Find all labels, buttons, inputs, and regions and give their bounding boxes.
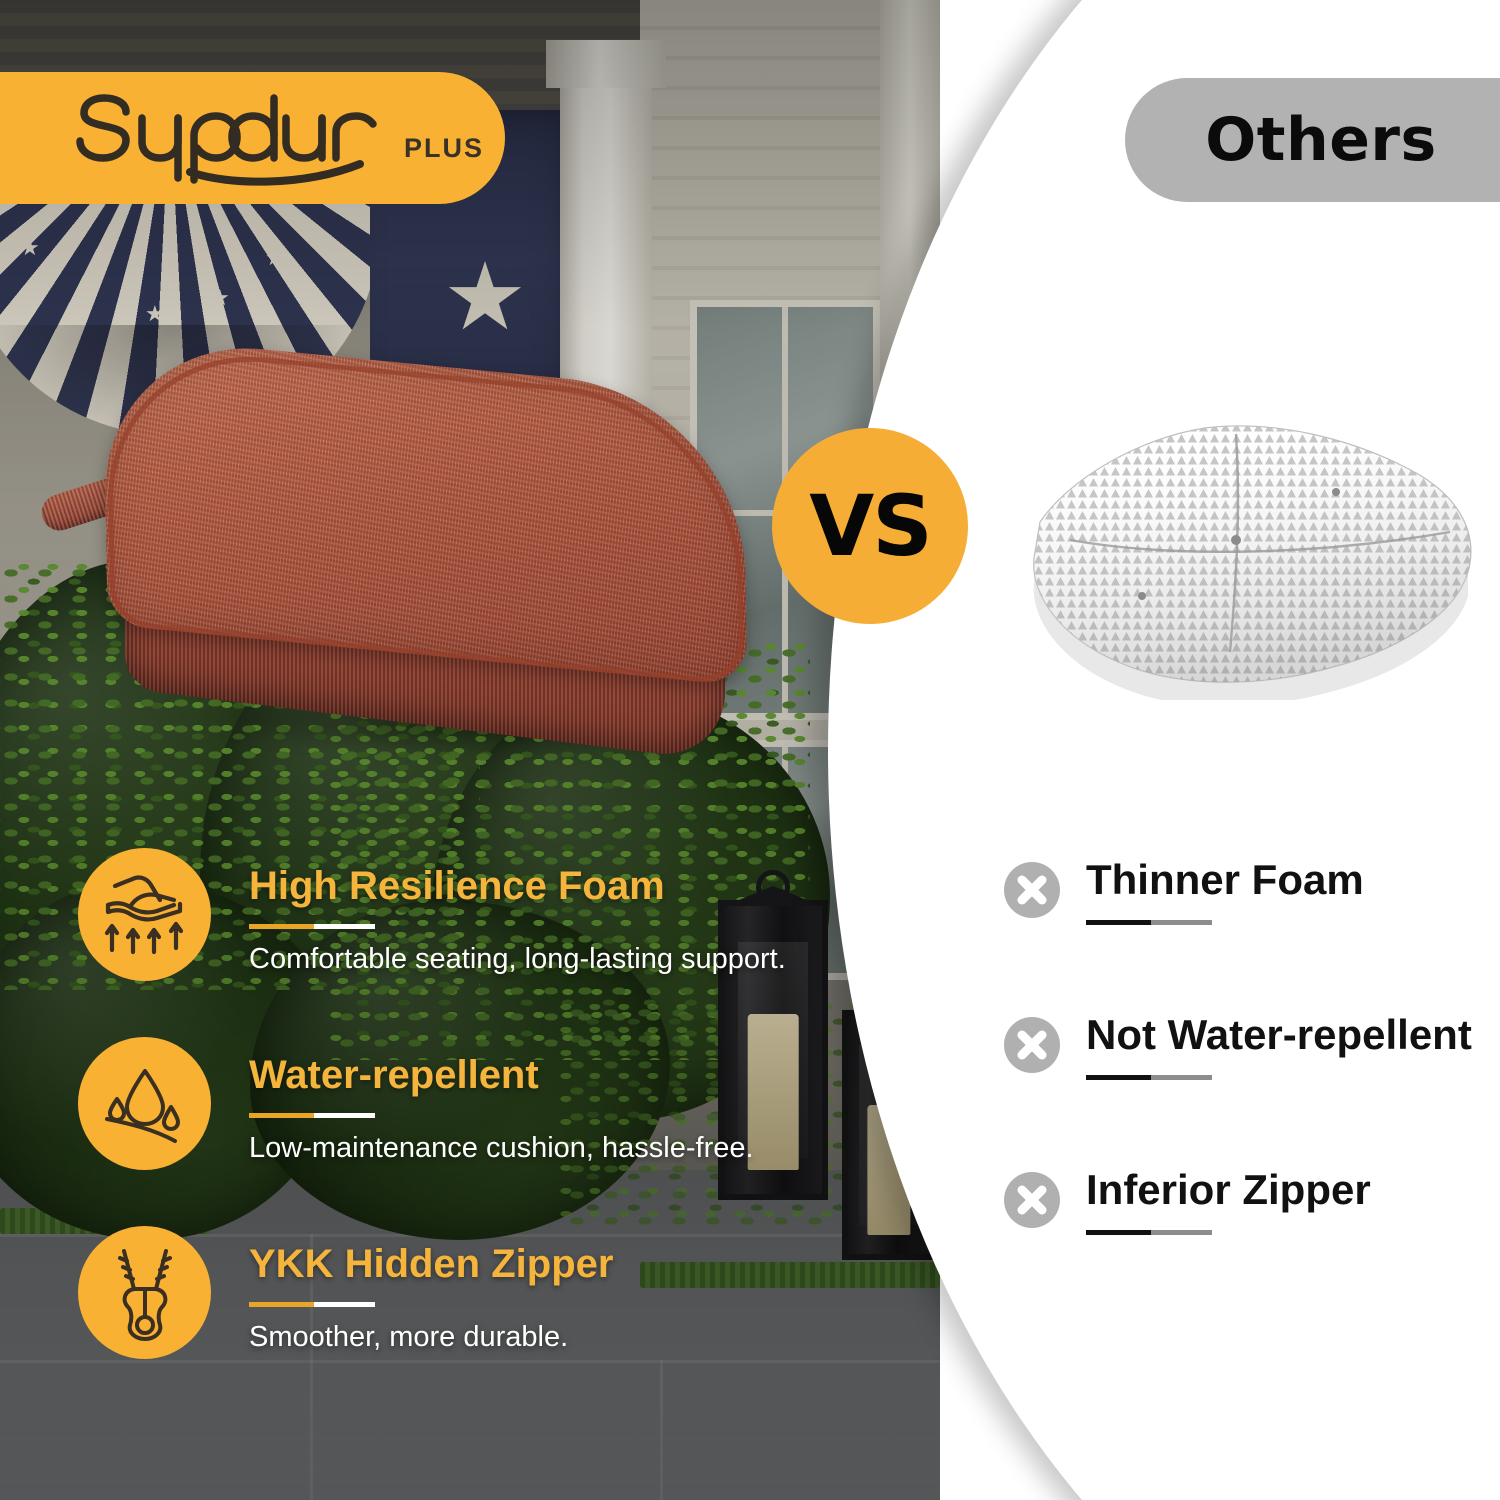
hand-supporting-cushion-with-up-arrows-icon <box>78 848 211 981</box>
con-divider-rule <box>1086 1075 1212 1080</box>
vs-label: VS <box>809 477 931 575</box>
product-cushion-image <box>80 355 780 775</box>
feature-title: Water-repellent <box>249 1053 754 1097</box>
feature-title: YKK Hidden Zipper <box>249 1242 613 1286</box>
con-row: Not Water-repellent <box>1004 1013 1494 1080</box>
feature-row: High Resilience Foam Comfortable seating… <box>78 848 818 981</box>
con-divider-rule <box>1086 1230 1212 1235</box>
con-text: Not Water-repellent <box>1086 1013 1472 1080</box>
competitor-drawback-list: Thinner Foam Not Water-repellent <box>1004 858 1494 1323</box>
con-text: Inferior Zipper <box>1086 1168 1371 1235</box>
feature-row: Water-repellent Low-maintenance cushion,… <box>78 1037 818 1170</box>
con-divider-rule <box>1086 920 1212 925</box>
supdur-wordmark-icon <box>70 90 400 186</box>
feature-subtitle: Comfortable seating, long-lasting suppor… <box>249 943 786 976</box>
logo-swoosh-icon <box>190 164 360 182</box>
others-badge-label: Others <box>1205 105 1464 175</box>
x-circle-icon <box>1004 1172 1060 1228</box>
con-row: Thinner Foam <box>1004 858 1494 925</box>
feature-subtitle: Smoother, more durable. <box>249 1321 613 1354</box>
product-feature-list: High Resilience Foam Comfortable seating… <box>78 848 818 1415</box>
x-circle-icon <box>1004 1017 1060 1073</box>
competitor-cushion-image <box>1000 400 1500 700</box>
infographic-canvas: ★ ★ ★ ★ ★ ★ <box>0 0 1500 1500</box>
feature-title: High Resilience Foam <box>249 864 786 908</box>
feature-text: High Resilience Foam Comfortable seating… <box>249 848 786 976</box>
feature-text: Water-repellent Low-maintenance cushion,… <box>249 1037 754 1165</box>
others-badge: Others <box>1125 78 1500 202</box>
con-text: Thinner Foam <box>1086 858 1364 925</box>
feature-divider-rule <box>249 924 375 929</box>
feature-text: YKK Hidden Zipper Smoother, more durable… <box>249 1226 613 1354</box>
con-title: Thinner Foam <box>1086 858 1364 902</box>
con-title: Inferior Zipper <box>1086 1168 1371 1212</box>
feature-divider-rule <box>249 1113 375 1118</box>
vs-badge: VS <box>772 428 968 624</box>
con-row: Inferior Zipper <box>1004 1168 1494 1235</box>
brand-logo-badge: PLUS <box>0 72 505 204</box>
brand-logo: PLUS <box>70 90 484 186</box>
x-circle-icon <box>1004 862 1060 918</box>
tuft-button <box>1138 592 1146 600</box>
feature-row: YKK Hidden Zipper Smoother, more durable… <box>78 1226 818 1359</box>
water-droplet-repel-icon <box>78 1037 211 1170</box>
feature-subtitle: Low-maintenance cushion, hassle-free. <box>249 1132 754 1165</box>
tuft-button <box>1332 488 1340 496</box>
tuft-button <box>1231 535 1241 545</box>
logo-plus-label: PLUS <box>404 133 484 164</box>
feature-divider-rule <box>249 1302 375 1307</box>
con-title: Not Water-repellent <box>1086 1013 1472 1057</box>
zipper-icon <box>78 1226 211 1359</box>
